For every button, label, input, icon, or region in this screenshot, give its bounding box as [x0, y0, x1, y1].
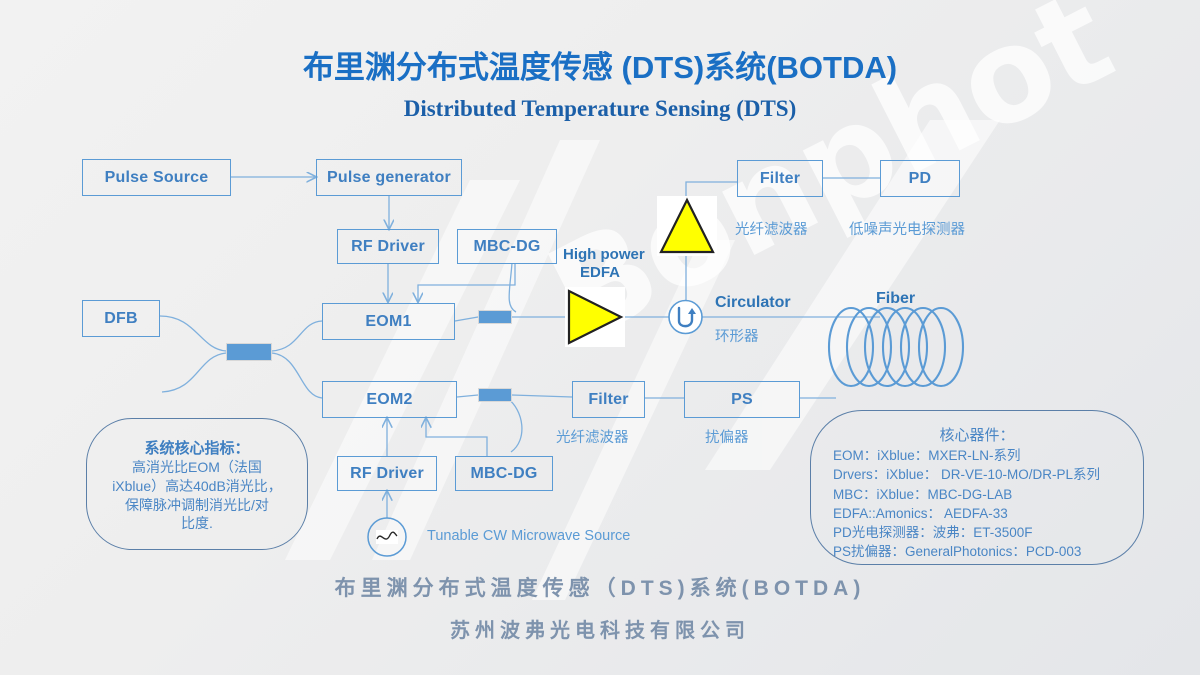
parts-panel-line-2: MBC：iXblue：MBC-DG-LAB [833, 485, 1121, 504]
block-pulse-source[interactable]: Pulse Source [82, 159, 231, 196]
label-ps-cn: 扰偏器 [705, 426, 749, 447]
block-ps[interactable]: PS [684, 381, 800, 418]
footer-line-2: 苏州波弗光电科技有限公司 [0, 614, 1200, 643]
parts-panel: 核心器件： EOM：iXblue：MXER-LN-系列 Drvers：iXblu… [810, 410, 1144, 565]
block-eom2[interactable]: EOM2 [322, 381, 457, 418]
block-eom1[interactable]: EOM1 [322, 303, 455, 340]
microwave-source-icon [368, 518, 406, 556]
parts-panel-line-5: PS扰偏器：GeneralPhotonics：PCD-003 [833, 542, 1121, 561]
block-mbc-dg-bottom[interactable]: MBC-DG [455, 456, 553, 491]
label-filter-top-cn: 光纤滤波器 [735, 218, 808, 239]
label-tunable-source: Tunable CW Microwave Source [427, 528, 630, 544]
label-circulator-cn: 环形器 [715, 325, 759, 346]
label-fiber: Fiber [876, 290, 915, 308]
spec-panel-line-3: 比度. [103, 514, 291, 533]
diagram-canvas: Bonphot 布里渊分布式温度传感 (DTS)系统(BOTDA) Distri… [0, 0, 1200, 675]
spec-panel-title: 系统核心指标： [103, 437, 291, 458]
parts-panel-line-3: EDFA::Amonics： AEDFA-33 [833, 504, 1121, 523]
block-rf-driver-top[interactable]: RF Driver [337, 229, 439, 264]
block-filter-top[interactable]: Filter [737, 160, 823, 197]
spec-panel-line-1: iXblue）高达40dB消光比， [103, 477, 291, 496]
label-pd-cn: 低噪声光电探测器 [849, 218, 965, 239]
block-filter-bottom[interactable]: Filter [572, 381, 645, 418]
pre-amplifier-triangle-icon [661, 200, 713, 252]
block-pd[interactable]: PD [880, 160, 960, 197]
coupler-eom1-output [478, 310, 512, 324]
parts-panel-line-4: PD光电探测器：波弗：ET-3500F [833, 523, 1121, 542]
parts-panel-line-1: Drvers：iXblue： DR-VE-10-MO/DR-PL系列 [833, 465, 1121, 484]
edfa-receiver-backing [657, 196, 717, 256]
coupler-eom2-output [478, 388, 512, 402]
label-high-power-edfa-line2: EDFA [580, 264, 620, 281]
coupler-main [226, 343, 272, 361]
edfa-amplifier-backing [565, 287, 625, 347]
label-high-power-edfa-line1: High power [563, 246, 645, 263]
block-rf-driver-bottom[interactable]: RF Driver [337, 456, 437, 491]
spec-panel-line-0: 高消光比EOM（法国 [103, 458, 291, 477]
fiber-coil-icon [829, 308, 963, 386]
spec-panel: 系统核心指标： 高消光比EOM（法国 iXblue）高达40dB消光比， 保障脉… [86, 418, 308, 550]
edfa-triangle-icon [569, 291, 621, 343]
block-mbc-dg-top[interactable]: MBC-DG [457, 229, 557, 264]
parts-panel-line-0: EOM：iXblue：MXER-LN-系列 [833, 446, 1121, 465]
parts-panel-title: 核心器件： [833, 425, 1121, 446]
label-filter-bottom-cn: 光纤滤波器 [556, 426, 629, 447]
block-dfb[interactable]: DFB [82, 300, 160, 337]
block-pulse-generator[interactable]: Pulse generator [316, 159, 462, 196]
footer-line-1: 布里渊分布式温度传感（DTS)系统(BOTDA) [0, 572, 1200, 602]
circulator-icon [669, 301, 702, 334]
spec-panel-line-2: 保障脉冲调制消光比/对 [103, 496, 291, 515]
label-circulator-en: Circulator [715, 294, 791, 312]
